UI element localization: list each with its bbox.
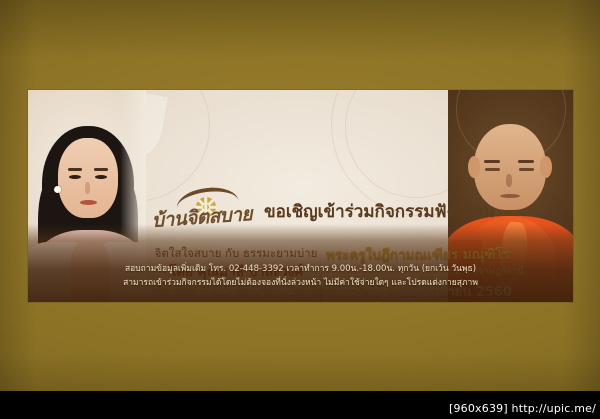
footer-notice-line: สามารถเข้าร่วมกิจกรรมได้โดยไม่ต้องจองที่… <box>28 276 573 290</box>
headline: ขอเชิญเข้าร่วมกิจกรรมฟังธรรม <box>264 198 495 225</box>
left-topic: จิตใสใจสบาย กับ ธรรมะยามบ่าย <box>152 246 320 262</box>
footer-info: สอบถามข้อมูลเพิ่มเติม โทร. 02-448-3392 เ… <box>28 262 573 290</box>
watermark: [960x639] http://upic.me/ <box>449 402 596 415</box>
watermark-url: http://upic.me/ <box>512 402 596 415</box>
page-background: บ้านจิตสบาย ขอเชิญเข้าร่วมกิจกรรมฟังธรรม… <box>0 0 600 419</box>
logo-text: บ้านจิตสบาย <box>151 199 253 236</box>
event-banner: บ้านจิตสบาย ขอเชิญเข้าร่วมกิจกรรมฟังธรรม… <box>28 90 573 302</box>
footer-contact-line: สอบถามข้อมูลเพิ่มเติม โทร. 02-448-3392 เ… <box>28 262 573 276</box>
logo: บ้านจิตสบาย <box>150 186 258 238</box>
watermark-dimensions: [960x639] <box>449 402 508 415</box>
black-footer-bar: [960x639] http://upic.me/ <box>0 391 600 419</box>
